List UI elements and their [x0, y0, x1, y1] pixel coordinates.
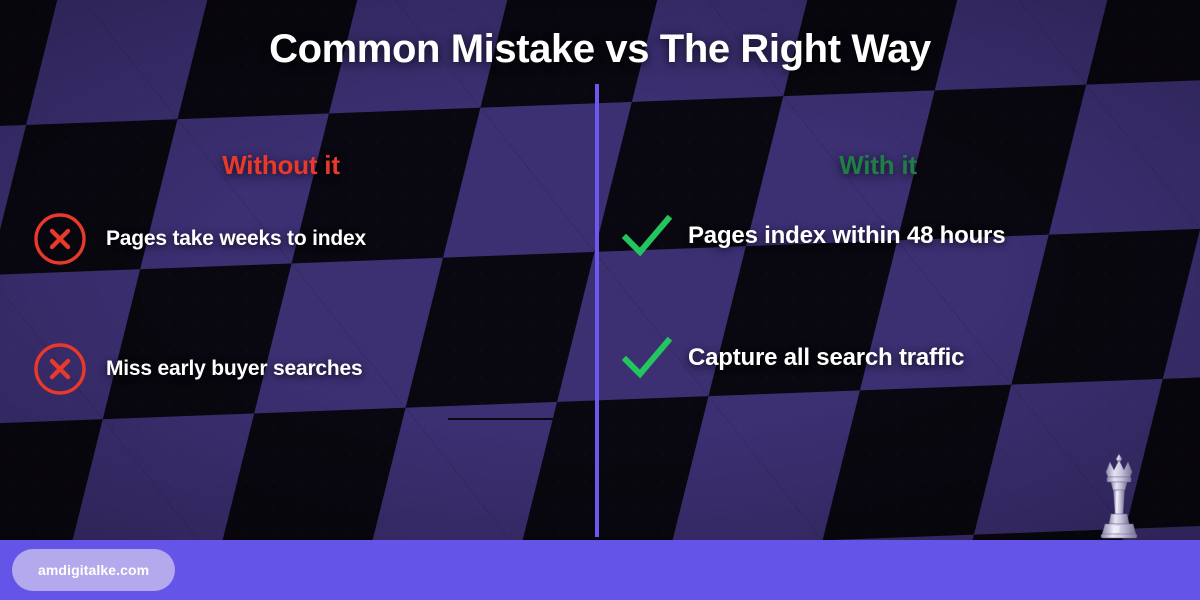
check-icon: [618, 333, 674, 383]
footer-bar: amdigitalke.com: [0, 540, 1200, 600]
list-item: Pages take weeks to index: [0, 211, 596, 267]
infographic-canvas: Common Mistake vs The Right Way Without …: [0, 0, 1200, 600]
brand-label: amdigitalke.com: [38, 562, 149, 578]
column-heading-with-it: With it: [600, 150, 1200, 181]
circle-x-icon: [32, 341, 88, 397]
circle-x-icon: [32, 211, 88, 267]
brand-pill[interactable]: amdigitalke.com: [12, 549, 175, 591]
column-with-it: With it Pages index within 48 hours Capt…: [600, 150, 1200, 455]
list-item-label: Capture all search traffic: [688, 344, 964, 372]
column-heading-without-it: Without it: [0, 150, 596, 181]
list-item: Capture all search traffic: [600, 333, 1200, 383]
list-item: Pages index within 48 hours: [600, 211, 1200, 261]
check-icon: [618, 211, 674, 261]
page-title: Common Mistake vs The Right Way: [0, 27, 1200, 72]
column-without-it: Without it Pages take weeks to index Mis…: [0, 150, 596, 471]
list-item-label: Miss early buyer searches: [106, 357, 363, 381]
chess-queen-icon: [1092, 452, 1146, 540]
list-item-label: Pages take weeks to index: [106, 227, 366, 251]
list-item: Miss early buyer searches: [0, 341, 596, 397]
list-item-label: Pages index within 48 hours: [688, 222, 1005, 250]
